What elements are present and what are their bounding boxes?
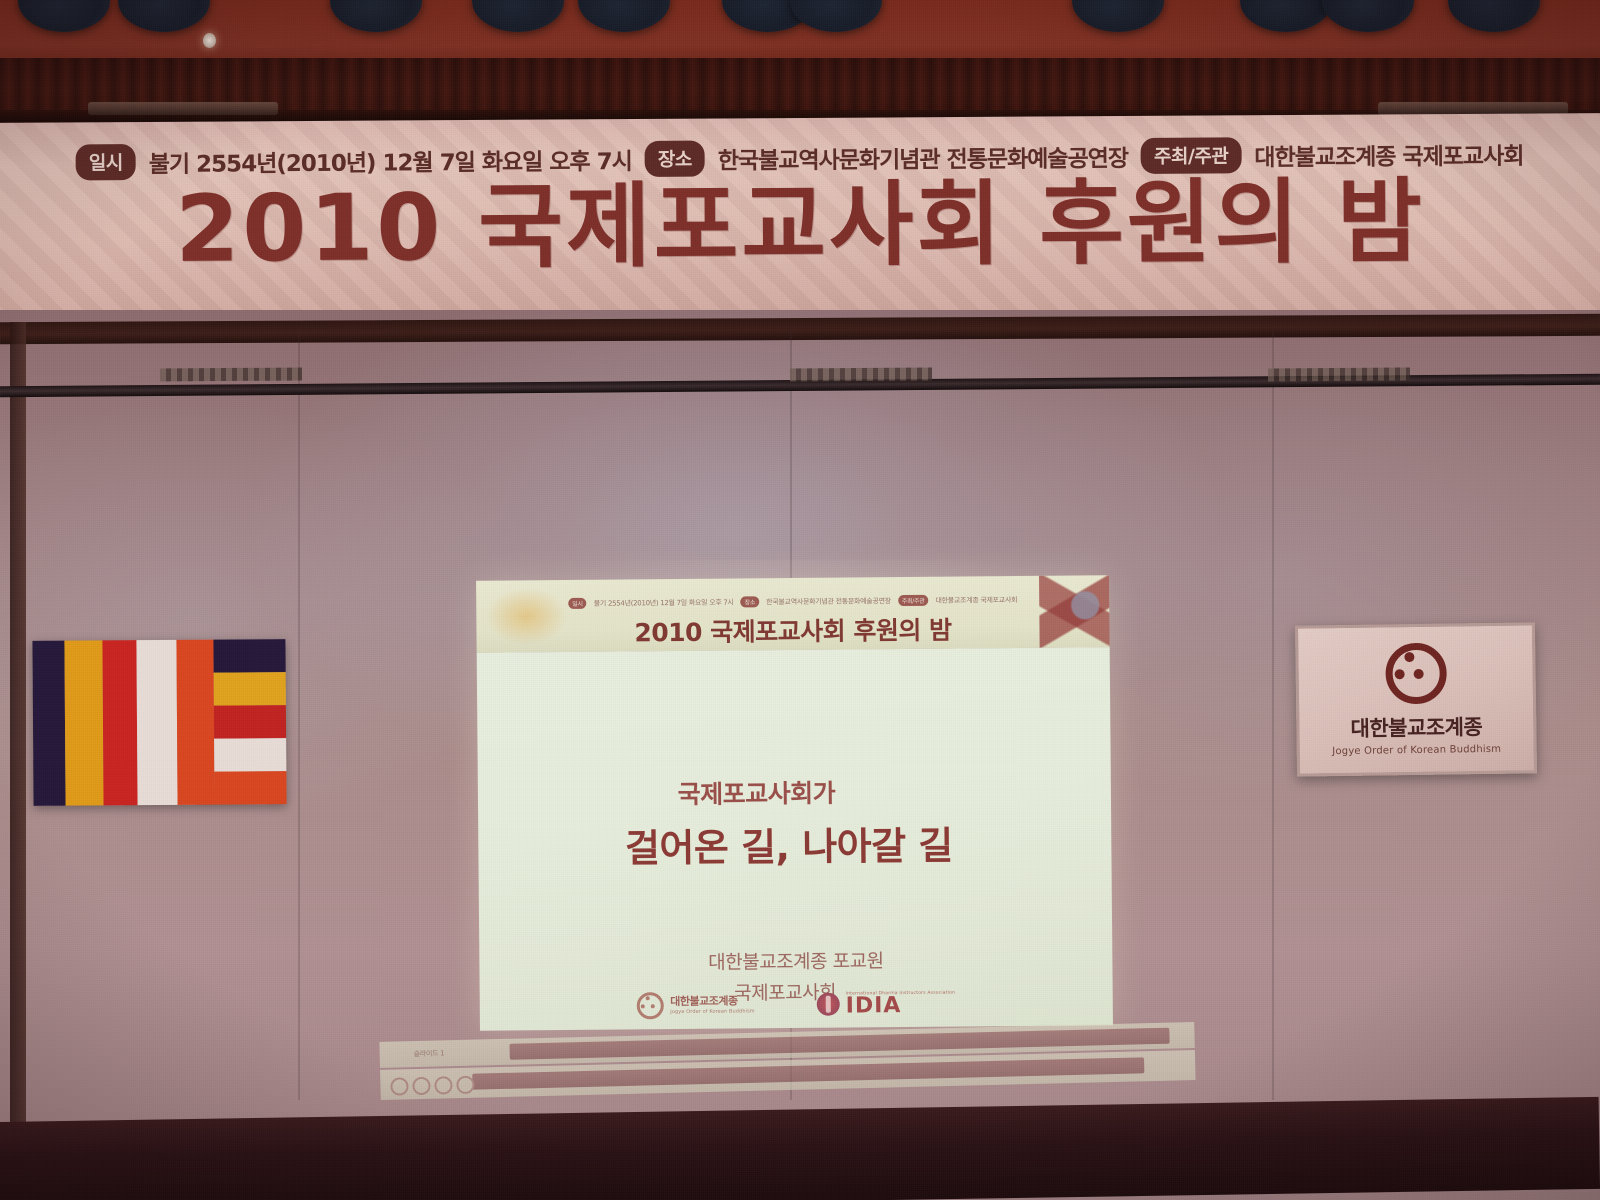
slide-jogye-korean: 대한불교조계종	[670, 996, 755, 1009]
banner-pill-date: 일시	[76, 144, 136, 180]
ceiling-light-icon	[18, 0, 110, 32]
event-hall-photo: 일시 불기 2554년(2010년) 12월 7일 화요일 오후 7시 장소 한…	[0, 0, 1600, 1200]
pipe-chain	[160, 367, 302, 381]
ceiling-light-icon	[578, 0, 670, 32]
banner-host-text: 대한불교조계종 국제포교사회	[1254, 137, 1523, 173]
pipe-chain	[790, 367, 932, 381]
ceiling-light-icon	[118, 0, 210, 32]
jogye-emblem-icon	[1385, 643, 1447, 705]
flag-block-yellow	[214, 672, 286, 706]
idia-mark-icon	[817, 993, 840, 1016]
ceiling-light-icon	[472, 0, 564, 32]
screen-left-frame	[10, 322, 26, 1122]
ceiling-light-icon	[1072, 0, 1164, 32]
event-banner: 일시 불기 2554년(2010년) 12월 7일 화요일 오후 7시 장소 한…	[0, 113, 1600, 321]
slide-date-text: 불기 2554년(2010년) 12월 7일 화요일 오후 7시	[594, 597, 734, 608]
slide-jogye-logo: 대한불교조계종 Jogye Order of Korean Buddhism	[637, 991, 755, 1019]
slide-jogye-english: Jogye Order of Korean Buddhism	[670, 1008, 755, 1015]
flag-block-orange	[214, 771, 286, 805]
rail-clip	[88, 102, 278, 115]
flag-block-white	[214, 738, 286, 772]
slide-venue-text: 한국불교역사문화기념관 전통문화예술공연장	[766, 596, 891, 607]
ppt-label-center: 한국어 기본 설계	[772, 1071, 819, 1082]
buddhist-flag	[32, 639, 286, 806]
slide-logo-row: 대한불교조계종 Jogye Order of Korean Buddhism I…	[480, 988, 1113, 1021]
slide-subtitle-line: 국제포교사회가	[677, 774, 835, 811]
slide-header-title: 2010 국제포교사회 후원의 밤	[476, 609, 1109, 651]
jogye-sign-english: Jogye Order of Korean Buddhism	[1332, 744, 1501, 757]
ceiling-light-icon	[330, 0, 422, 32]
slide-pill-venue: 장소	[741, 596, 760, 607]
flag-stripe-red	[102, 640, 137, 805]
flag-stripe-orange	[176, 640, 214, 805]
slide-main-title: 걸어온 길, 나아갈 길	[625, 815, 953, 873]
flag-compound-block	[213, 639, 286, 804]
jogye-emblem-icon	[637, 992, 664, 1019]
small-bulb-icon	[203, 33, 216, 48]
flag-stripe-yellow	[64, 640, 103, 805]
flag-block-blue	[213, 639, 285, 673]
pipe-chain	[1268, 367, 1410, 381]
ppt-label-left: 슬라이드 1	[414, 1048, 445, 1059]
slide-pill-date: 일시	[568, 598, 587, 609]
slide-corner-ornament-icon	[1039, 575, 1110, 653]
slide-idia-logo: International Dharma Instructors Associa…	[817, 991, 956, 1017]
ceiling-light-icon	[790, 0, 882, 32]
idia-wordmark: IDIA	[846, 996, 956, 1017]
jogye-order-sign: 대한불교조계종 Jogye Order of Korean Buddhism	[1295, 622, 1537, 776]
slide-pill-host: 주최/주관	[898, 595, 929, 606]
slide-subline: 일시 불기 2554년(2010년) 12월 7일 화요일 오후 7시 장소 한…	[476, 593, 1109, 610]
banner-title: 2010 국제포교사회 후원의 밤	[0, 175, 1600, 277]
jogye-sign-korean: 대한불교조계종	[1350, 711, 1482, 743]
screen-seam	[1272, 330, 1274, 1100]
projected-slide: 일시 불기 2554년(2010년) 12월 7일 화요일 오후 7시 장소 한…	[476, 575, 1113, 1031]
flag-block-red	[214, 705, 286, 739]
ceiling-light-icon	[1322, 0, 1414, 32]
banner-pill-venue: 장소	[645, 141, 705, 177]
flag-stripe-white	[136, 640, 177, 805]
flag-stripe-blue	[32, 641, 65, 806]
slide-org-line-1: 대한불교조계종 포교원	[708, 946, 884, 975]
ceiling-light-icon	[1448, 0, 1540, 32]
slide-body: 국제포교사회가 걸어온 길, 나아갈 길 대한불교조계종 포교원 국제포교사회 …	[477, 647, 1113, 1031]
slide-host-text: 대한불교조계종 국제포교사회	[935, 595, 1017, 606]
slide-header: 일시 불기 2554년(2010년) 12월 7일 화요일 오후 7시 장소 한…	[476, 575, 1110, 653]
screen-seam	[298, 330, 300, 1100]
ceiling-light-icon	[1240, 0, 1332, 32]
